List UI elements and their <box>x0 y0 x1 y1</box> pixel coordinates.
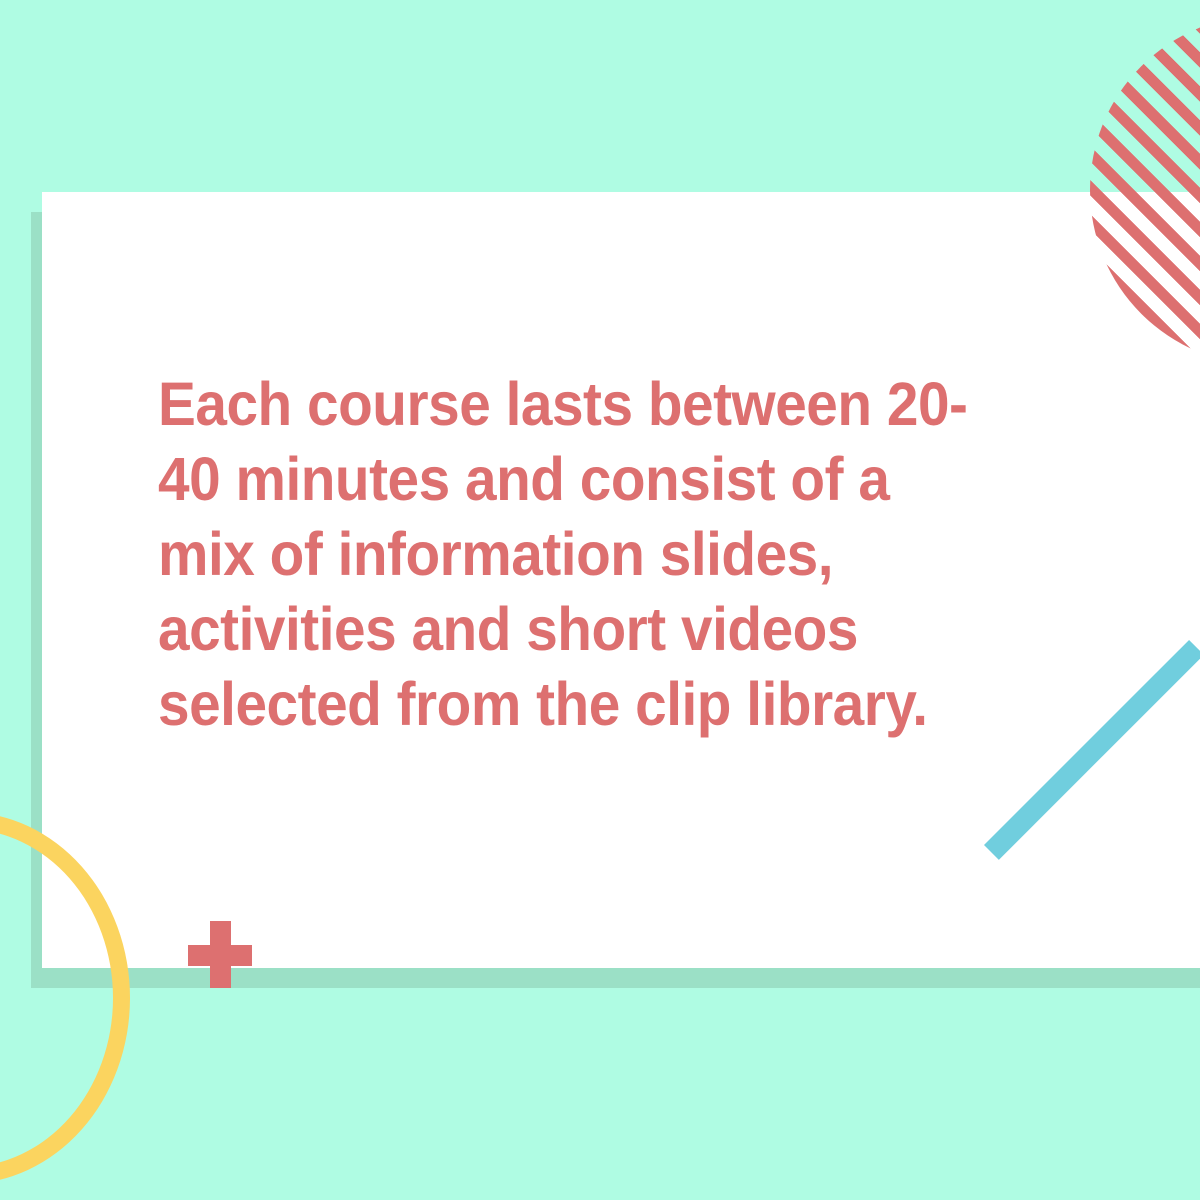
content-card: Each course lasts between 20-40 minutes … <box>42 192 1200 968</box>
headline-text: Each course lasts between 20-40 minutes … <box>158 367 995 742</box>
plus-mark-decoration <box>188 921 252 988</box>
plus-horizontal-bar <box>188 945 252 966</box>
slide-canvas: Each course lasts between 20-40 minutes … <box>0 0 1200 1200</box>
card-body: Each course lasts between 20-40 minutes … <box>158 367 1058 742</box>
